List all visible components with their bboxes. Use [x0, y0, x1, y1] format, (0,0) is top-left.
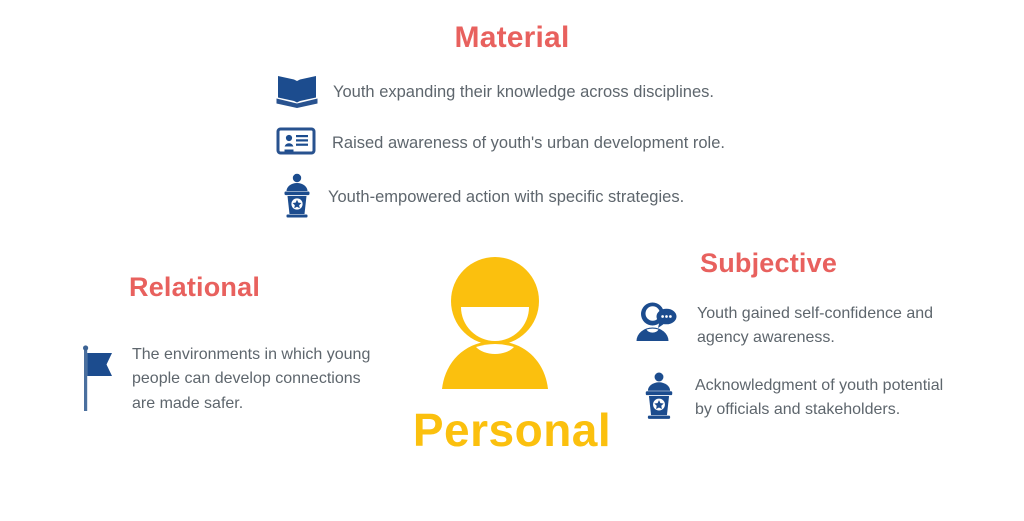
- infographic-canvas: Material Youth expanding their knowledge…: [0, 0, 1024, 521]
- list-item-text: Youth gained self-confidence and agency …: [697, 298, 947, 351]
- list-item: Youth-empowered action with specific str…: [280, 172, 684, 223]
- id-card-icon: [276, 124, 318, 163]
- list-item: Youth expanding their knowledge across d…: [275, 70, 714, 115]
- person-smiling-icon: [428, 255, 562, 395]
- section-title-subjective: Subjective: [700, 248, 837, 279]
- podium-speaker-icon: [280, 172, 314, 223]
- open-book-icon: [275, 70, 319, 115]
- section-title-relational: Relational: [129, 272, 260, 303]
- list-item: Raised awareness of youth's urban develo…: [276, 124, 725, 163]
- list-item: Youth gained self-confidence and agency …: [633, 298, 947, 351]
- person-speech-bubble-icon: [633, 298, 679, 349]
- list-item-text: Youth-empowered action with specific str…: [328, 186, 684, 209]
- list-item-text: Youth expanding their knowledge across d…: [333, 81, 714, 104]
- section-title-material: Material: [0, 21, 1024, 55]
- center-label-personal: Personal: [0, 403, 1024, 457]
- list-item-text: Raised awareness of youth's urban develo…: [332, 132, 725, 155]
